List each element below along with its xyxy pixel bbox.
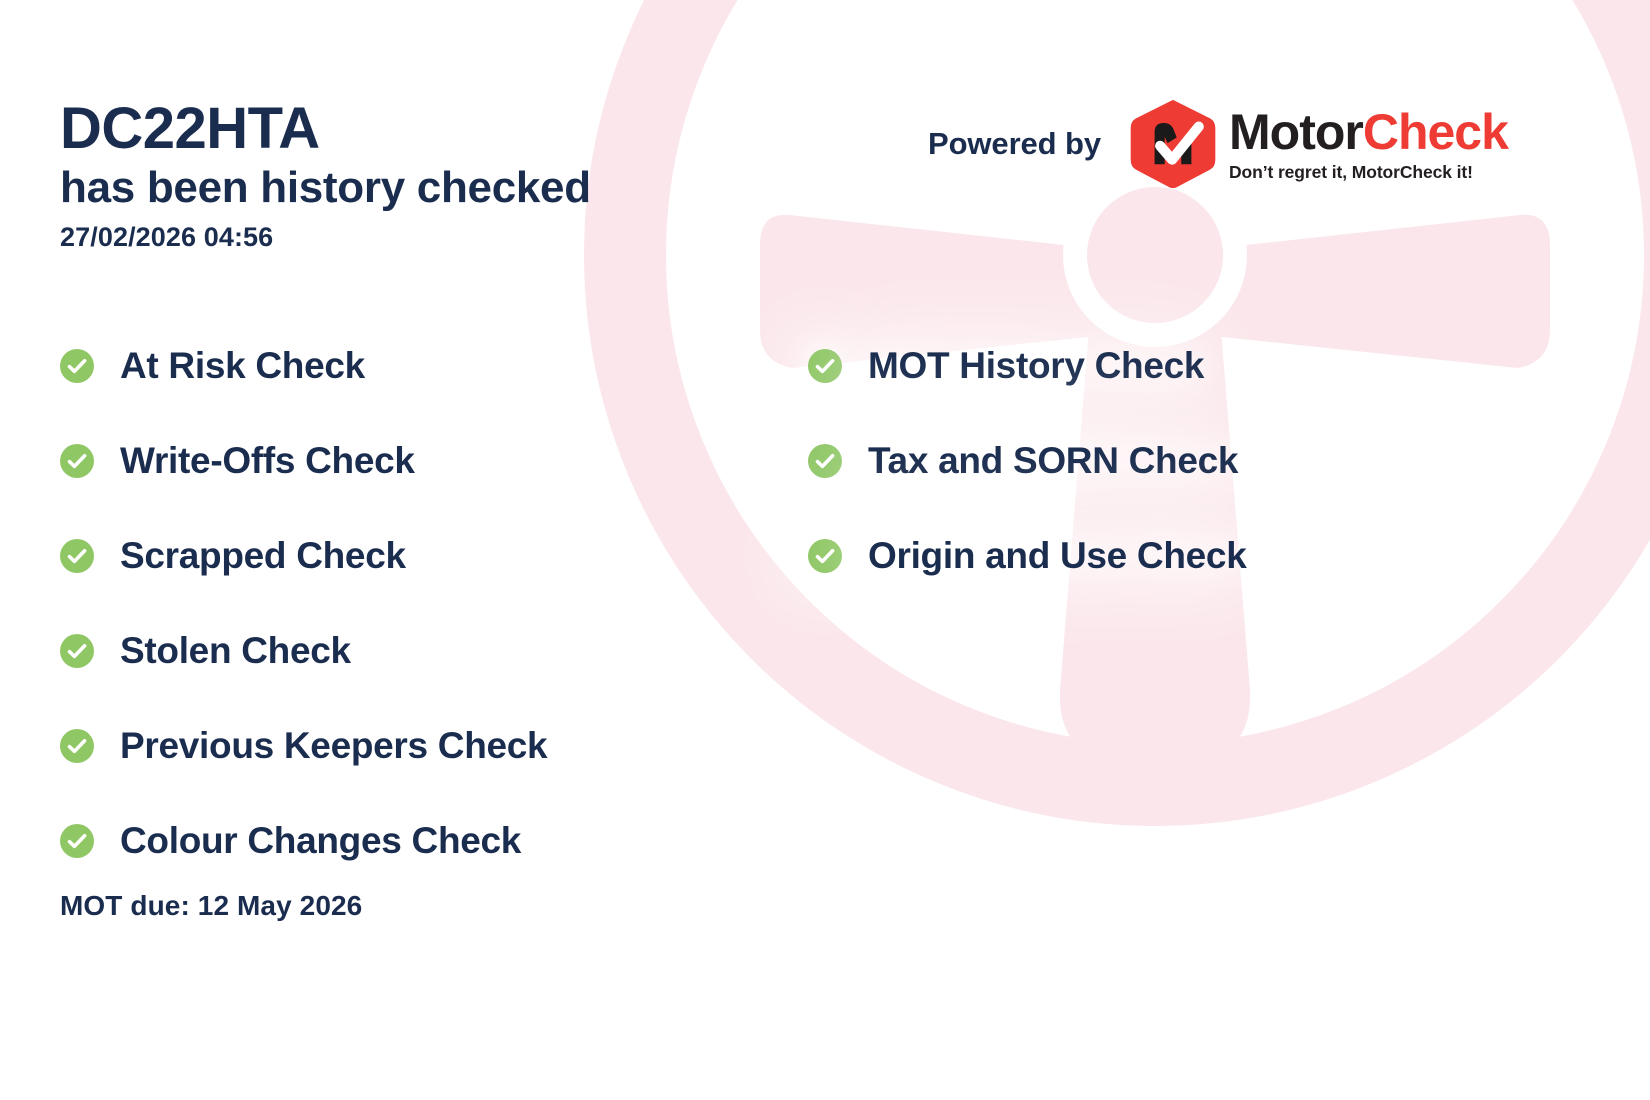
check-circle-icon <box>60 824 94 858</box>
motorcheck-wordmark: MotorCheck Don’t regret it, MotorCheck i… <box>1229 107 1508 182</box>
check-label: Write-Offs Check <box>120 440 415 482</box>
check-circle-icon <box>60 349 94 383</box>
brand-name-check: Check <box>1363 104 1508 160</box>
check-label: Stolen Check <box>120 630 351 672</box>
check-circle-icon <box>60 729 94 763</box>
brand-tagline: Don’t regret it, MotorCheck it! <box>1229 164 1508 182</box>
vehicle-registration: DC22HTA <box>60 98 820 161</box>
check-label: Previous Keepers Check <box>120 725 547 767</box>
headline-subtitle: has been history checked <box>60 163 820 212</box>
brand-name-motor: Motor <box>1229 104 1363 160</box>
brand-name: MotorCheck <box>1229 107 1508 157</box>
check-item: Tax and SORN Check <box>808 413 1508 508</box>
check-item: MOT History Check <box>808 318 1508 413</box>
check-item: Origin and Use Check <box>808 508 1508 603</box>
check-item: Previous Keepers Check <box>60 698 780 793</box>
check-item: Scrapped Check <box>60 508 780 603</box>
checks-column-left: At Risk Check Write-Offs Check Scrapped … <box>60 318 780 888</box>
check-label: Scrapped Check <box>120 535 406 577</box>
mot-due-date: MOT due: 12 May 2026 <box>60 890 362 922</box>
powered-by-block: Powered by MotorCheck Don’t regret it, M… <box>928 98 1508 190</box>
check-label: Tax and SORN Check <box>868 440 1238 482</box>
check-label: Colour Changes Check <box>120 820 521 862</box>
powered-by-label: Powered by <box>928 126 1101 162</box>
motorcheck-logo[interactable]: MotorCheck Don’t regret it, MotorCheck i… <box>1127 98 1508 190</box>
check-circle-icon <box>60 634 94 668</box>
header-block: DC22HTA has been history checked 27/02/2… <box>60 98 820 253</box>
check-label: MOT History Check <box>868 345 1204 387</box>
check-circle-icon <box>808 349 842 383</box>
check-label: At Risk Check <box>120 345 365 387</box>
check-item: Colour Changes Check <box>60 793 780 888</box>
checks-column-right: MOT History Check Tax and SORN Check Ori… <box>808 318 1508 603</box>
motorcheck-hexagon-icon <box>1127 98 1219 190</box>
banner-content: DC22HTA has been history checked 27/02/2… <box>0 0 1650 1100</box>
check-item: Write-Offs Check <box>60 413 780 508</box>
check-circle-icon <box>60 539 94 573</box>
check-circle-icon <box>808 444 842 478</box>
check-item: Stolen Check <box>60 603 780 698</box>
check-timestamp: 27/02/2026 04:56 <box>60 222 820 253</box>
check-item: At Risk Check <box>60 318 780 413</box>
vehicle-history-banner: DC22HTA has been history checked 27/02/2… <box>0 0 1650 1100</box>
check-circle-icon <box>60 444 94 478</box>
hexagon-shape <box>1131 100 1216 188</box>
check-circle-icon <box>808 539 842 573</box>
check-label: Origin and Use Check <box>868 535 1247 577</box>
